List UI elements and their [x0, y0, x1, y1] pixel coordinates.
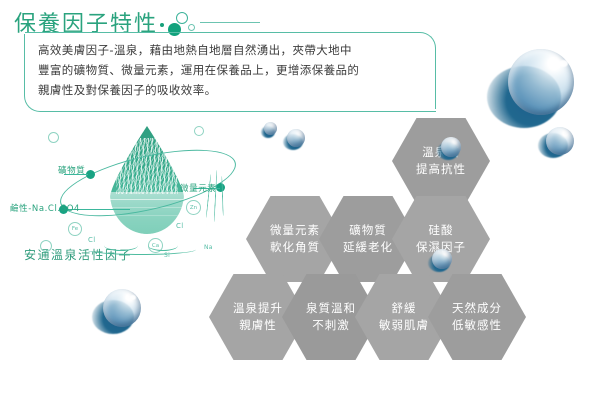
header-rule [200, 22, 260, 23]
hex-line-1: 舒緩 [392, 300, 417, 317]
hex-line-2: 低敏感性 [452, 317, 502, 334]
outline-circle-icon [176, 12, 188, 24]
label-minerals: 礦物質 [58, 164, 85, 176]
mini-droplet-left [264, 122, 277, 135]
tiny-outline-circle-icon [188, 24, 195, 31]
element-fe-icon: Fe [68, 222, 82, 236]
element-dot-icon-b [194, 126, 204, 136]
hex-hotspring-bacteria[interactable]: 溫泉菌 提高抗性 [392, 118, 490, 204]
hex-line-2: 親膚性 [239, 317, 277, 334]
header-decor-dots [158, 10, 204, 36]
hex-line-1: 硅酸 [429, 222, 454, 239]
hex-line-1: 天然成分 [452, 300, 502, 317]
element-dot-icon-a [48, 132, 59, 143]
label-alkaline: 鹼性-Na.Cl.SO4 [10, 202, 80, 214]
hex-line-1: 微量元素 [270, 222, 320, 239]
hex-natural[interactable]: 天然成分 低敏感性 [428, 274, 526, 360]
element-cl2-label: Cl [88, 236, 95, 244]
element-cl-label: Cl [176, 222, 183, 230]
droplet-bottom-highlight [130, 295, 136, 300]
hex-line-2: 不刺激 [312, 317, 350, 334]
intro-line-3: 親膚性及對保養因子的吸收效率。 [38, 80, 430, 100]
mini-droplet-center [432, 249, 452, 269]
ripple-left [104, 240, 138, 251]
hex-line-2: 提高抗性 [416, 161, 466, 178]
intro-line-2: 豐富的礦物質、微量元素，運用在保養品上，更增添保養品的 [38, 60, 430, 80]
hex-line-1: 溫泉提升 [233, 300, 283, 317]
hex-line-1: 泉質溫和 [306, 300, 356, 317]
small-solid-dot-icon [160, 23, 164, 27]
label-trace-elements: 微量元素 [180, 182, 216, 194]
ripple-right [148, 240, 178, 251]
droplet-large-icon [508, 49, 574, 115]
droplet-large-highlight [559, 60, 568, 67]
element-na-label: Na [204, 244, 213, 251]
intro-line-1: 高效美膚因子-溫泉，藉由地熱自地層自然湧出，夾帶大地中 [38, 40, 430, 60]
intro-paragraph: 高效美膚因子-溫泉，藉由地熱自地層自然湧出，夾帶大地中 豐富的礦物質、微量元素，… [38, 40, 430, 100]
drop-line-c [110, 215, 184, 216]
mini-droplet-right [441, 137, 461, 157]
element-dot-icon-c [40, 240, 52, 252]
poster-canvas: 保養因子特性 高效美膚因子-溫泉，藉由地熱自地層自然湧出，夾帶大地中 豐富的礦物… [0, 0, 600, 400]
hex-line-2: 延緩老化 [343, 239, 393, 256]
element-zn-icon: Zn [186, 200, 201, 215]
droplet-diagram: 礦物質 微量元素 鹼性-Na.Cl.SO4 安通溫泉活性因子 Zn Ca Fe … [8, 118, 248, 278]
droplet-small-icon [546, 127, 574, 155]
droplet-bottom-left-icon [103, 289, 141, 327]
hex-line-2: 敏弱肌膚 [379, 317, 429, 334]
hex-line-2: 軟化角質 [270, 239, 320, 256]
ripple-large [86, 244, 196, 255]
hex-line-1: 礦物質 [349, 222, 387, 239]
mini-droplet-mid [287, 129, 305, 147]
